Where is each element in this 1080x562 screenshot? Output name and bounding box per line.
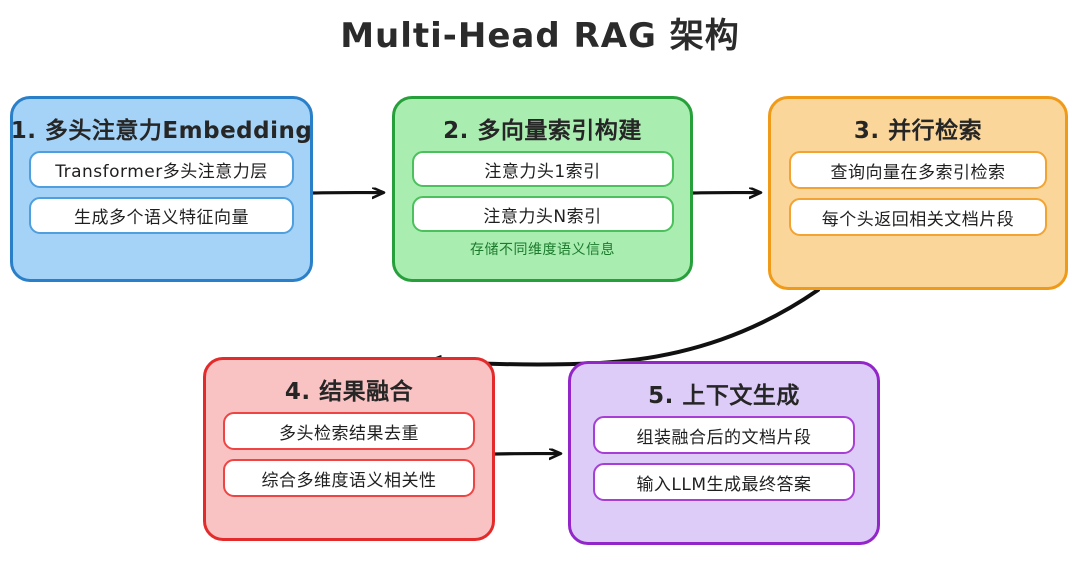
- node-step-4[interactable]: 4. 结果融合 多头检索结果去重 综合多维度语义相关性: [203, 357, 495, 541]
- node-5-item-2[interactable]: 输入LLM生成最终答案: [593, 463, 855, 501]
- node-4-item-2[interactable]: 综合多维度语义相关性: [223, 459, 475, 497]
- node-2-item-2[interactable]: 注意力头N索引: [412, 196, 674, 232]
- node-2-title: 2. 多向量索引构建: [443, 111, 642, 145]
- node-step-3[interactable]: 3. 并行检索 查询向量在多索引检索 每个头返回相关文档片段: [768, 96, 1068, 290]
- node-3-title: 3. 并行检索: [854, 111, 982, 145]
- node-step-1[interactable]: 1. 多头注意力Embedding Transformer多头注意力层 生成多个…: [10, 96, 313, 282]
- node-4-item-1[interactable]: 多头检索结果去重: [223, 412, 475, 450]
- edge-3-to-4: [430, 290, 818, 364]
- node-1-item-1[interactable]: Transformer多头注意力层: [29, 151, 294, 188]
- node-step-2[interactable]: 2. 多向量索引构建 注意力头1索引 注意力头N索引 存储不同维度语义信息: [392, 96, 693, 282]
- node-1-item-2[interactable]: 生成多个语义特征向量: [29, 197, 294, 234]
- node-5-item-1[interactable]: 组装融合后的文档片段: [593, 416, 855, 454]
- node-5-title: 5. 上下文生成: [648, 376, 800, 410]
- node-4-title: 4. 结果融合: [285, 372, 413, 406]
- node-2-caption: 存储不同维度语义信息: [470, 239, 615, 259]
- node-3-item-1[interactable]: 查询向量在多索引检索: [789, 151, 1047, 189]
- node-1-title: 1. 多头注意力Embedding: [11, 111, 313, 145]
- node-step-5[interactable]: 5. 上下文生成 组装融合后的文档片段 输入LLM生成最终答案: [568, 361, 880, 545]
- node-2-item-1[interactable]: 注意力头1索引: [412, 151, 674, 187]
- node-3-item-2[interactable]: 每个头返回相关文档片段: [789, 198, 1047, 236]
- page-title: Multi-Head RAG 架构: [0, 8, 1080, 57]
